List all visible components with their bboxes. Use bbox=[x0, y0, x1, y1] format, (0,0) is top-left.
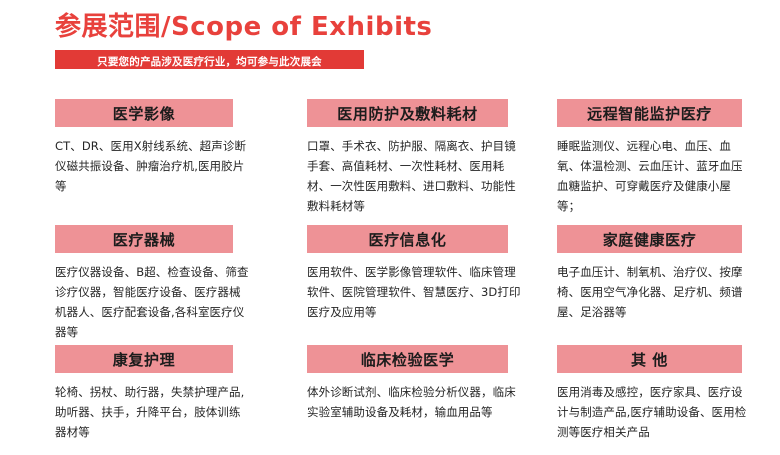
category-description: CT、DR、医用X射线系统、超声诊断仪磁共振设备、肿瘤治疗机,医用胶片等 bbox=[55, 136, 251, 196]
subtitle-banner: 只要您的产品涉及医疗行业，均可参与此次展会 bbox=[55, 50, 364, 69]
category-card-medical-devices[interactable]: 医疗器械 医疗仪器设备、B超、检查设备、筛查诊疗仪器，智能医疗设备、医疗器械机器… bbox=[55, 225, 307, 345]
category-card-remote-smart-monitoring[interactable]: 远程智能监护医疗 睡眠监测仪、远程心电、血压、血氧、体温检测、云血压计、蓝牙血压… bbox=[557, 99, 760, 225]
category-card-medical-imaging[interactable]: 医学影像 CT、DR、医用X射线系统、超声诊断仪磁共振设备、肿瘤治疗机,医用胶片… bbox=[55, 99, 307, 225]
category-title: 医疗信息化 bbox=[368, 229, 446, 250]
category-card-rehabilitation-nursing[interactable]: 康复护理 轮椅、拐杖、助行器，失禁护理产品,助听器、扶手，升降平台，肢体训练器材… bbox=[55, 345, 307, 455]
category-card-header: 临床检验医学 bbox=[307, 345, 508, 373]
category-card-medical-protection-dressings[interactable]: 医用防护及敷料耗材 口罩、手术衣、防护服、隔离衣、护目镜手套、高值耗材、一次性耗… bbox=[307, 99, 557, 225]
category-title: 康复护理 bbox=[113, 349, 175, 370]
category-description: 医用消毒及感控，医疗家具、医疗设计与制造产品,医疗辅助设备、医用检测等医疗相关产… bbox=[557, 382, 747, 442]
category-description: 轮椅、拐杖、助行器，失禁护理产品,助听器、扶手，升降平台，肢体训练器材等 bbox=[55, 382, 251, 442]
category-description: 睡眠监测仪、远程心电、血压、血氧、体温检测、云血压计、蓝牙血压血糖监护、可穿戴医… bbox=[557, 136, 747, 216]
category-card-header: 其 他 bbox=[557, 345, 742, 373]
category-card-clinical-laboratory-medicine[interactable]: 临床检验医学 体外诊断试剂、临床检验分析仪器，临床实验室辅助设备及耗材，输血用品… bbox=[307, 345, 557, 455]
category-card-others[interactable]: 其 他 医用消毒及感控，医疗家具、医疗设计与制造产品,医疗辅助设备、医用检测等医… bbox=[557, 345, 760, 455]
subtitle-text: 只要您的产品涉及医疗行业，均可参与此次展会 bbox=[97, 56, 322, 68]
category-description: 口罩、手术衣、防护服、隔离衣、护目镜手套、高值耗材、一次性耗材、医用耗材、一次性… bbox=[307, 136, 523, 216]
page-title: 参展范围/Scope of Exhibits bbox=[55, 10, 755, 44]
category-description: 体外诊断试剂、临床检验分析仪器，临床实验室辅助设备及耗材，输血用品等 bbox=[307, 382, 523, 422]
category-description: 医疗仪器设备、B超、检查设备、筛查诊疗仪器，智能医疗设备、医疗器械机器人、医疗配… bbox=[55, 262, 251, 342]
category-title: 家庭健康医疗 bbox=[603, 229, 697, 250]
category-card-home-health-care[interactable]: 家庭健康医疗 电子血压计、制氧机、治疗仪、按摩椅、医用空气净化器、足疗机、频谱屋… bbox=[557, 225, 760, 345]
category-title: 临床检验医学 bbox=[361, 349, 455, 370]
scope-of-exhibits-page: 参展范围/Scope of Exhibits 只要您的产品涉及医疗行业，均可参与… bbox=[0, 0, 780, 453]
exhibit-category-grid: 医学影像 CT、DR、医用X射线系统、超声诊断仪磁共振设备、肿瘤治疗机,医用胶片… bbox=[55, 99, 760, 455]
page-header: 参展范围/Scope of Exhibits 只要您的产品涉及医疗行业，均可参与… bbox=[55, 10, 755, 69]
category-card-header: 医用防护及敷料耗材 bbox=[307, 99, 508, 127]
category-title: 远程智能监护医疗 bbox=[587, 103, 712, 124]
category-card-header: 远程智能监护医疗 bbox=[557, 99, 742, 127]
category-card-header: 康复护理 bbox=[55, 345, 233, 373]
category-title: 医用防护及敷料耗材 bbox=[337, 103, 477, 124]
category-description: 医用软件、医学影像管理软件、临床管理软件、医院管理软件、智慧医疗、3D打印医疗及… bbox=[307, 262, 523, 322]
category-card-header: 医疗信息化 bbox=[307, 225, 508, 253]
category-card-header: 医学影像 bbox=[55, 99, 233, 127]
category-title: 医疗器械 bbox=[113, 229, 175, 250]
category-title: 医学影像 bbox=[113, 103, 175, 124]
category-card-header: 医疗器械 bbox=[55, 225, 233, 253]
category-title: 其 他 bbox=[631, 349, 668, 370]
category-description: 电子血压计、制氧机、治疗仪、按摩椅、医用空气净化器、足疗机、频谱屋、足浴器等 bbox=[557, 262, 747, 322]
category-card-header: 家庭健康医疗 bbox=[557, 225, 742, 253]
category-card-medical-informatization[interactable]: 医疗信息化 医用软件、医学影像管理软件、临床管理软件、医院管理软件、智慧医疗、3… bbox=[307, 225, 557, 345]
